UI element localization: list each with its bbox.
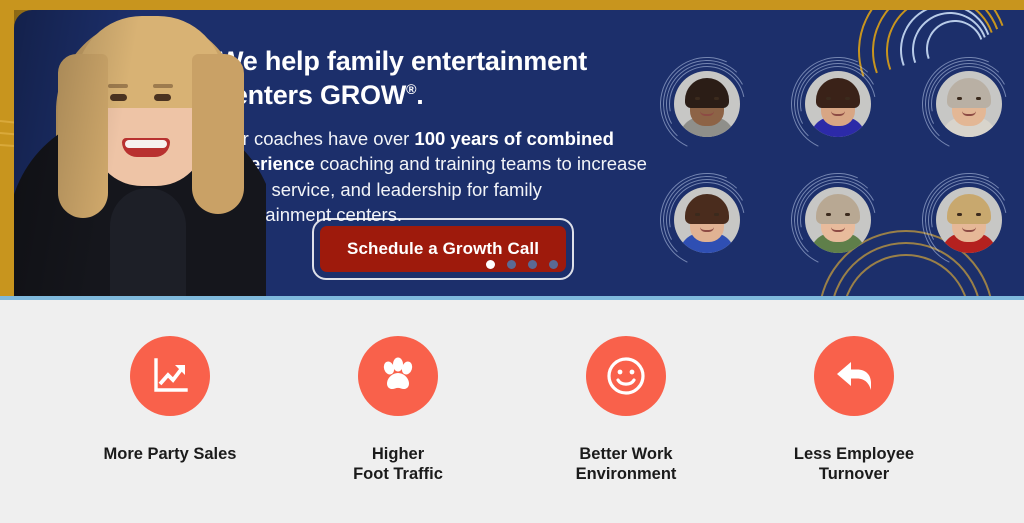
coach-avatar-4 <box>642 162 773 278</box>
hero-portrait-photo <box>14 10 266 298</box>
paw-print-icon[interactable] <box>358 336 438 416</box>
carousel-dot-1[interactable] <box>486 260 495 269</box>
hero-copy: We help family entertainment centers GRO… <box>218 44 648 227</box>
feature-item-4[interactable]: Less Employee Turnover <box>764 336 944 485</box>
headline-line-1: We help family entertainment <box>218 46 587 76</box>
landing-page: We help family entertainment centers GRO… <box>0 0 1024 523</box>
feature-label: More Party Sales <box>104 444 237 464</box>
hero-headline: We help family entertainment centers GRO… <box>218 44 648 112</box>
coach-avatar-3 <box>903 46 1024 162</box>
growth-chart-icon[interactable] <box>130 336 210 416</box>
hero-subcopy: Our coaches have over 100 years of combi… <box>218 126 648 227</box>
registered-trademark-symbol: ® <box>406 81 416 97</box>
smiley-face-icon[interactable] <box>586 336 666 416</box>
carousel-dots[interactable] <box>486 260 558 269</box>
feature-label: Higher Foot Traffic <box>353 444 443 485</box>
coach-photo <box>805 71 871 137</box>
coach-avatar-5 <box>773 162 904 278</box>
hero-section: We help family entertainment centers GRO… <box>0 0 1024 298</box>
coach-avatar-6 <box>903 162 1024 278</box>
carousel-dot-4[interactable] <box>549 260 558 269</box>
coach-avatar-2 <box>773 46 904 162</box>
headline-period: . <box>416 80 423 110</box>
coach-photo <box>674 187 740 253</box>
coach-photo <box>936 187 1002 253</box>
feature-item-3[interactable]: Better Work Environment <box>536 336 716 485</box>
feature-item-2[interactable]: Higher Foot Traffic <box>308 336 488 485</box>
feature-label: Less Employee Turnover <box>794 444 914 485</box>
carousel-dot-2[interactable] <box>507 260 516 269</box>
coach-avatar-1 <box>642 46 773 162</box>
feature-item-1[interactable]: More Party Sales <box>80 336 260 485</box>
carousel-dot-3[interactable] <box>528 260 537 269</box>
feature-label: Better Work Environment <box>576 444 677 485</box>
coach-photo <box>805 187 871 253</box>
coach-avatar-grid <box>642 46 1024 278</box>
coach-photo <box>674 71 740 137</box>
coach-photo <box>936 71 1002 137</box>
features-row: More Party SalesHigher Foot TrafficBette… <box>80 336 944 485</box>
features-section: More Party SalesHigher Foot TrafficBette… <box>0 300 1024 523</box>
return-arrow-icon[interactable] <box>814 336 894 416</box>
